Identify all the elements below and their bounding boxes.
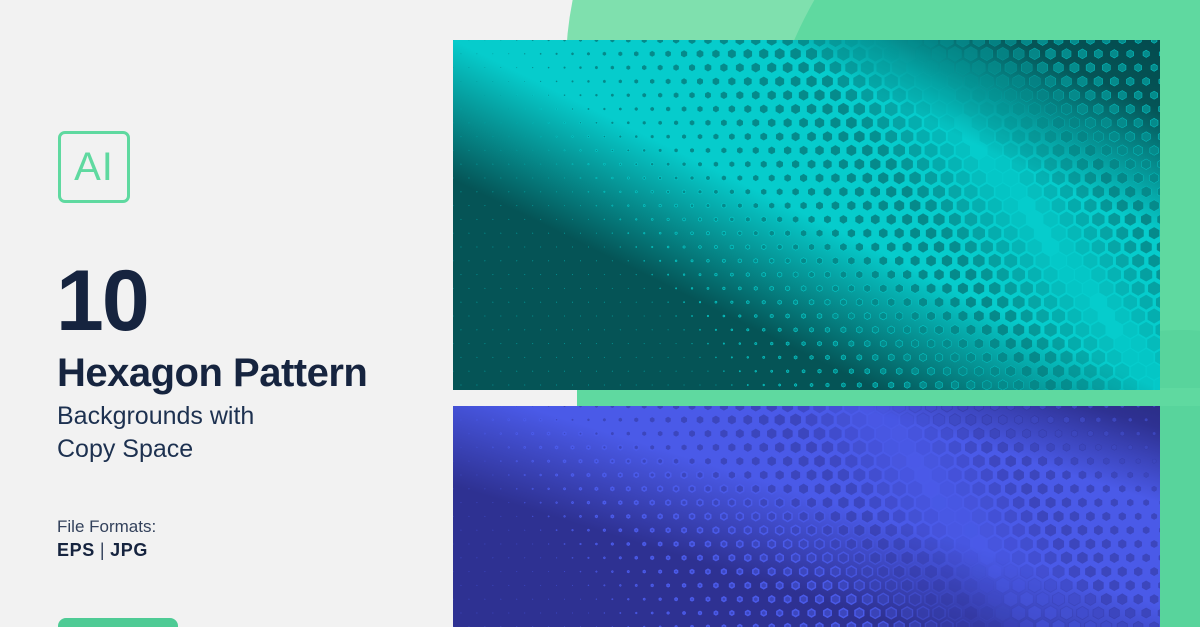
subtitle-line-2: Copy Space [57,433,254,466]
ai-badge-label: AI [74,147,114,187]
page-subtitle: Backgrounds with Copy Space [57,400,254,466]
file-formats-value: EPS|JPG [57,540,148,561]
cta-button[interactable] [58,618,178,627]
ai-file-badge-icon: AI [58,131,130,203]
format-separator: | [95,540,110,560]
file-formats-label: File Formats: [57,517,156,537]
panel-teal-hexagon-pattern [453,40,1160,390]
preview-panel-teal[interactable] [453,40,1160,390]
item-count: 10 [56,258,148,344]
poster-canvas: AI 10 Hexagon Pattern Backgrounds with C… [0,0,1200,627]
panel-purple-hexagon-pattern [453,406,1160,627]
green-divider-band [577,388,1200,406]
format-jpg: JPG [110,540,148,560]
subtitle-line-1: Backgrounds with [57,400,254,433]
page-title: Hexagon Pattern [57,352,367,395]
preview-panel-purple[interactable] [453,406,1160,627]
info-column: AI 10 Hexagon Pattern Backgrounds with C… [0,0,453,627]
format-eps: EPS [57,540,95,560]
